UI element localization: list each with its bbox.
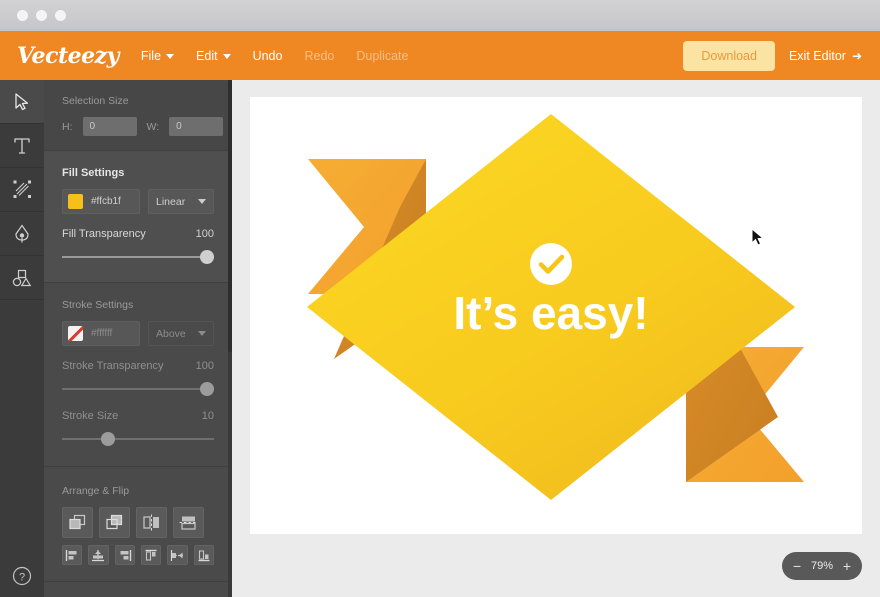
stroke-transparency-slider[interactable] bbox=[62, 382, 214, 396]
settings-panel: Selection Size H: W: Fill Settings #ffcb… bbox=[44, 80, 232, 597]
chevron-down-icon bbox=[198, 199, 206, 204]
tool-rail: ? bbox=[0, 80, 44, 597]
fill-color-hex: #ffcb1f bbox=[91, 196, 121, 207]
stroke-size-label: Stroke Size bbox=[62, 410, 118, 422]
flip-horizontal-button[interactable] bbox=[136, 507, 167, 538]
menu-item-edit[interactable]: Edit bbox=[196, 49, 231, 63]
align-bottom-button[interactable] bbox=[194, 545, 214, 565]
cursor-arrow-icon bbox=[14, 93, 30, 111]
text-tool-button[interactable] bbox=[0, 124, 44, 168]
menu-item-undo[interactable]: Undo bbox=[253, 49, 283, 63]
stroke-size-value: 10 bbox=[202, 410, 214, 422]
menu-item-file[interactable]: File bbox=[141, 49, 174, 63]
stroke-settings-title: Stroke Settings bbox=[62, 299, 214, 311]
exit-editor-button[interactable]: Exit Editor ➜ bbox=[789, 49, 862, 63]
align-buttons-row bbox=[62, 545, 214, 565]
slider-knob[interactable] bbox=[101, 432, 115, 446]
shapes-icon bbox=[12, 269, 32, 287]
chevron-down-icon bbox=[223, 54, 231, 59]
no-color-swatch-icon bbox=[68, 326, 83, 341]
stroke-size-header: Stroke Size 10 bbox=[62, 410, 214, 422]
zoom-control: − 79% + bbox=[782, 552, 862, 580]
height-label: H: bbox=[62, 121, 73, 133]
align-right-button[interactable] bbox=[115, 545, 135, 565]
stroke-size-slider[interactable] bbox=[62, 432, 214, 446]
shapes-tool-button[interactable] bbox=[0, 256, 44, 300]
chevron-down-icon bbox=[198, 331, 206, 336]
vecteezy-editor-window: Vecteezy File Edit Undo Redo Duplicate D… bbox=[0, 0, 880, 597]
width-input[interactable] bbox=[169, 117, 223, 136]
design-canvas[interactable]: It’s easy! bbox=[250, 97, 862, 534]
slider-track bbox=[62, 256, 214, 258]
window-controls bbox=[17, 10, 66, 21]
stroke-settings-section: Stroke Settings #ffffff Above Stroke Tra… bbox=[44, 283, 232, 466]
stroke-transparency-header: Stroke Transparency 100 bbox=[62, 360, 214, 372]
fill-settings-title: Fill Settings bbox=[62, 167, 214, 179]
arrange-flip-title: Arrange & Flip bbox=[62, 485, 214, 497]
pen-tool-button[interactable] bbox=[0, 212, 44, 256]
pen-nib-icon bbox=[14, 224, 30, 244]
header-actions: Download Exit Editor ➜ bbox=[683, 31, 866, 80]
show-rulers-section: Show rulers OFF bbox=[44, 582, 232, 597]
menu-item-edit-label: Edit bbox=[196, 49, 218, 63]
menu-item-redo[interactable]: Redo bbox=[304, 49, 334, 63]
fill-transparency-header: Fill Transparency 100 bbox=[62, 228, 214, 240]
stroke-transparency-value: 100 bbox=[196, 360, 214, 372]
minimize-window-button[interactable] bbox=[36, 10, 47, 21]
vecteezy-logo[interactable]: Vecteezy bbox=[17, 43, 119, 69]
slider-track bbox=[62, 438, 214, 440]
artwork-ribbon-banner[interactable]: It’s easy! bbox=[250, 97, 862, 534]
fill-gradient-type-dropdown[interactable]: Linear bbox=[148, 189, 214, 214]
close-window-button[interactable] bbox=[17, 10, 28, 21]
app-header: Vecteezy File Edit Undo Redo Duplicate D… bbox=[0, 31, 880, 80]
height-input[interactable] bbox=[83, 117, 137, 136]
stroke-transparency-label: Stroke Transparency bbox=[62, 360, 164, 372]
arrange-flip-section: Arrange & Flip bbox=[44, 467, 232, 581]
fill-gradient-type-value: Linear bbox=[156, 196, 185, 208]
maximize-window-button[interactable] bbox=[55, 10, 66, 21]
selection-size-section: Selection Size H: W: bbox=[44, 80, 232, 150]
fill-transparency-label: Fill Transparency bbox=[62, 228, 146, 240]
transform-tool-button[interactable] bbox=[0, 168, 44, 212]
fill-color-row: #ffcb1f Linear bbox=[62, 189, 214, 214]
slider-knob[interactable] bbox=[200, 382, 214, 396]
zoom-level-value: 79% bbox=[811, 560, 833, 572]
stroke-color-row: #ffffff Above bbox=[62, 321, 214, 346]
align-center-horizontal-button[interactable] bbox=[88, 545, 108, 565]
send-backward-button[interactable] bbox=[99, 507, 130, 538]
align-left-button[interactable] bbox=[62, 545, 82, 565]
canvas-workspace[interactable]: It’s easy! − 79% + bbox=[232, 80, 880, 597]
menu-item-file-label: File bbox=[141, 49, 161, 63]
stroke-position-dropdown[interactable]: Above bbox=[148, 321, 214, 346]
text-t-icon bbox=[13, 137, 31, 155]
slider-knob[interactable] bbox=[200, 250, 214, 264]
bring-forward-button[interactable] bbox=[62, 507, 93, 538]
flip-vertical-button[interactable] bbox=[173, 507, 204, 538]
stroke-color-hex: #ffffff bbox=[91, 328, 112, 339]
zoom-out-button[interactable]: − bbox=[793, 559, 801, 573]
stroke-color-picker[interactable]: #ffffff bbox=[62, 321, 140, 346]
svg-text:?: ? bbox=[19, 571, 25, 583]
fill-settings-section: Fill Settings #ffcb1f Linear Fill Transp… bbox=[44, 151, 232, 282]
fill-transparency-value: 100 bbox=[196, 228, 214, 240]
stroke-position-value: Above bbox=[156, 328, 186, 340]
check-circle-icon bbox=[530, 243, 572, 285]
download-button[interactable]: Download bbox=[683, 41, 775, 71]
exit-editor-label: Exit Editor bbox=[789, 49, 846, 63]
help-button[interactable]: ? bbox=[0, 555, 44, 597]
main-menu: File Edit Undo Redo Duplicate bbox=[141, 49, 409, 63]
select-tool-button[interactable] bbox=[0, 80, 44, 124]
window-titlebar bbox=[0, 0, 880, 31]
selection-size-fields: H: W: bbox=[62, 117, 214, 136]
transform-hatch-icon bbox=[13, 180, 32, 199]
fill-transparency-slider[interactable] bbox=[62, 250, 214, 264]
width-label: W: bbox=[147, 121, 160, 133]
chevron-down-icon bbox=[166, 54, 174, 59]
arrange-buttons-row bbox=[62, 507, 214, 538]
arrow-right-icon: ➜ bbox=[852, 50, 862, 62]
align-top-button[interactable] bbox=[141, 545, 161, 565]
menu-item-duplicate[interactable]: Duplicate bbox=[356, 49, 408, 63]
fill-color-picker[interactable]: #ffcb1f bbox=[62, 189, 140, 214]
slider-track bbox=[62, 388, 214, 390]
align-center-vertical-button[interactable] bbox=[167, 545, 187, 565]
zoom-in-button[interactable]: + bbox=[843, 559, 851, 573]
fill-color-swatch bbox=[68, 194, 83, 209]
selection-size-title: Selection Size bbox=[62, 95, 214, 107]
banner-text: It’s easy! bbox=[453, 287, 648, 339]
